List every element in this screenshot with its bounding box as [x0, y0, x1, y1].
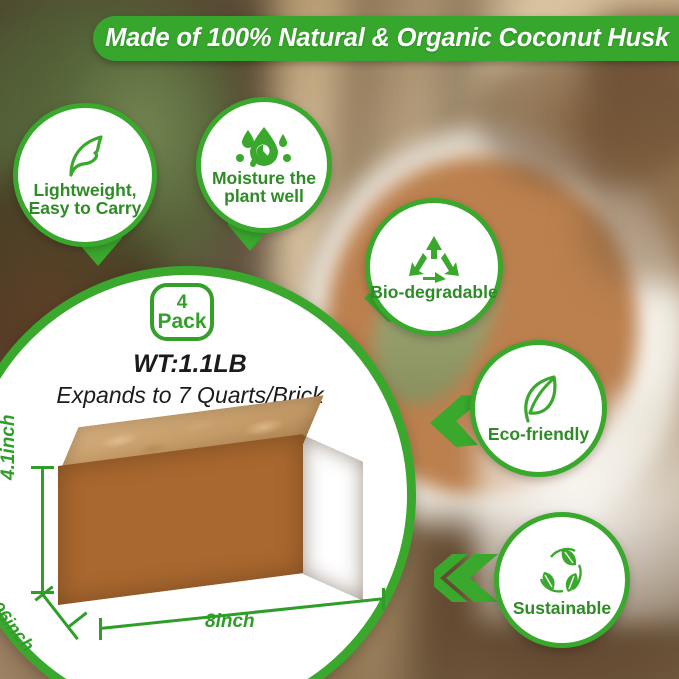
- feature-bubble-sustainable[interactable]: Sustainable: [494, 512, 630, 648]
- feature-bubble-ecofriendly[interactable]: Eco-friendly: [470, 340, 607, 477]
- arrow-sustainable: [434, 552, 502, 609]
- leaf-recycle-icon: [531, 543, 593, 599]
- feature-label-lightweight: Lightweight, Easy to Carry: [29, 181, 142, 218]
- recycle-icon: [406, 233, 462, 283]
- pack-count-unit: Pack: [157, 311, 206, 332]
- feature-label-biodegradable: Bio-degradable: [370, 283, 497, 301]
- headline-banner: Made of 100% Natural & Organic Coconut H…: [93, 16, 679, 61]
- width-dimension-label: 8inch: [205, 611, 255, 633]
- feature-label-ecofriendly: Eco-friendly: [488, 425, 589, 443]
- feature-label-sustainable: Sustainable: [513, 599, 611, 617]
- height-dimension-line: [41, 466, 44, 594]
- water-droplet-icon: [234, 125, 294, 169]
- height-dimension-label: 4.1inch: [0, 415, 20, 480]
- coco-coir-brick-image: [58, 430, 363, 605]
- infographic-canvas: Made of 100% Natural & Organic Coconut H…: [0, 0, 679, 679]
- leaf-outline-icon: [514, 373, 564, 425]
- pack-count-badge: 4 Pack: [150, 283, 214, 341]
- pack-count-number: 4: [177, 293, 188, 312]
- leaf-icon: [61, 133, 109, 179]
- product-weight: WT:1.1LB: [0, 350, 380, 379]
- feature-bubble-biodegradable[interactable]: Bio-degradable: [365, 198, 503, 336]
- feature-bubble-moisture[interactable]: Moisture the plant well: [196, 97, 332, 233]
- feature-bubble-lightweight[interactable]: Lightweight, Easy to Carry: [13, 103, 157, 247]
- width-cap-left: [99, 618, 102, 640]
- feature-label-moisture: Moisture the plant well: [212, 169, 316, 206]
- height-cap-top: [31, 466, 54, 469]
- width-cap-right: [382, 588, 385, 610]
- headline-text: Made of 100% Natural & Organic Coconut H…: [105, 24, 669, 53]
